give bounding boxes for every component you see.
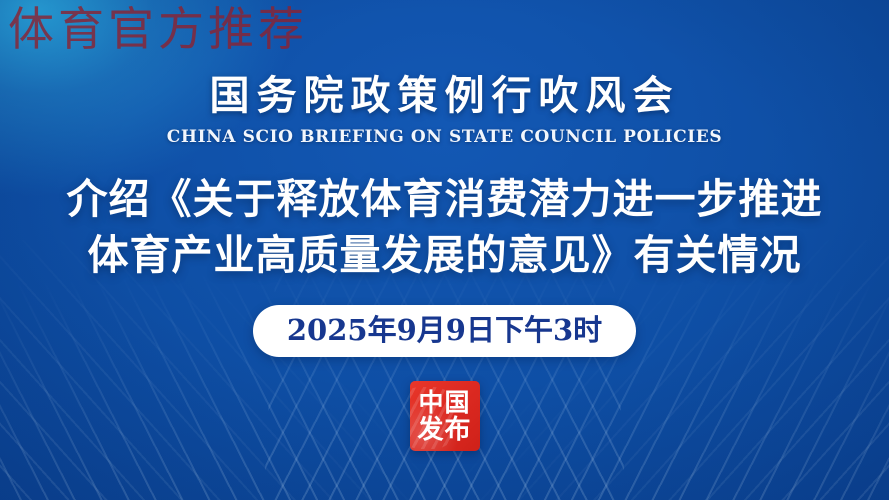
china-release-logo: 中国 发布 xyxy=(410,381,480,451)
briefing-poster: 体育官方推荐 国务院政策例行吹风会 CHINA SCIO BRIEFING ON… xyxy=(0,0,889,500)
page-subtitle-english: CHINA SCIO BRIEFING ON STATE COUNCIL POL… xyxy=(167,127,722,147)
page-title: 国务院政策例行吹风会 xyxy=(167,72,722,120)
headline-line-1: 介绍《关于释放体育消费潜力进一步推进 xyxy=(67,171,823,227)
header-block: 国务院政策例行吹风会 CHINA SCIO BRIEFING ON STATE … xyxy=(167,72,722,147)
logo-line-1: 中国 xyxy=(418,389,470,416)
date-time-badge: 2025年9月9日下午3时 xyxy=(253,305,636,357)
headline-line-2: 体育产业高质量发展的意见》有关情况 xyxy=(67,227,823,283)
poster-content: 国务院政策例行吹风会 CHINA SCIO BRIEFING ON STATE … xyxy=(0,0,889,500)
headline-block: 介绍《关于释放体育消费潜力进一步推进 体育产业高质量发展的意见》有关情况 xyxy=(67,171,823,283)
logo-line-2: 发布 xyxy=(417,416,471,444)
